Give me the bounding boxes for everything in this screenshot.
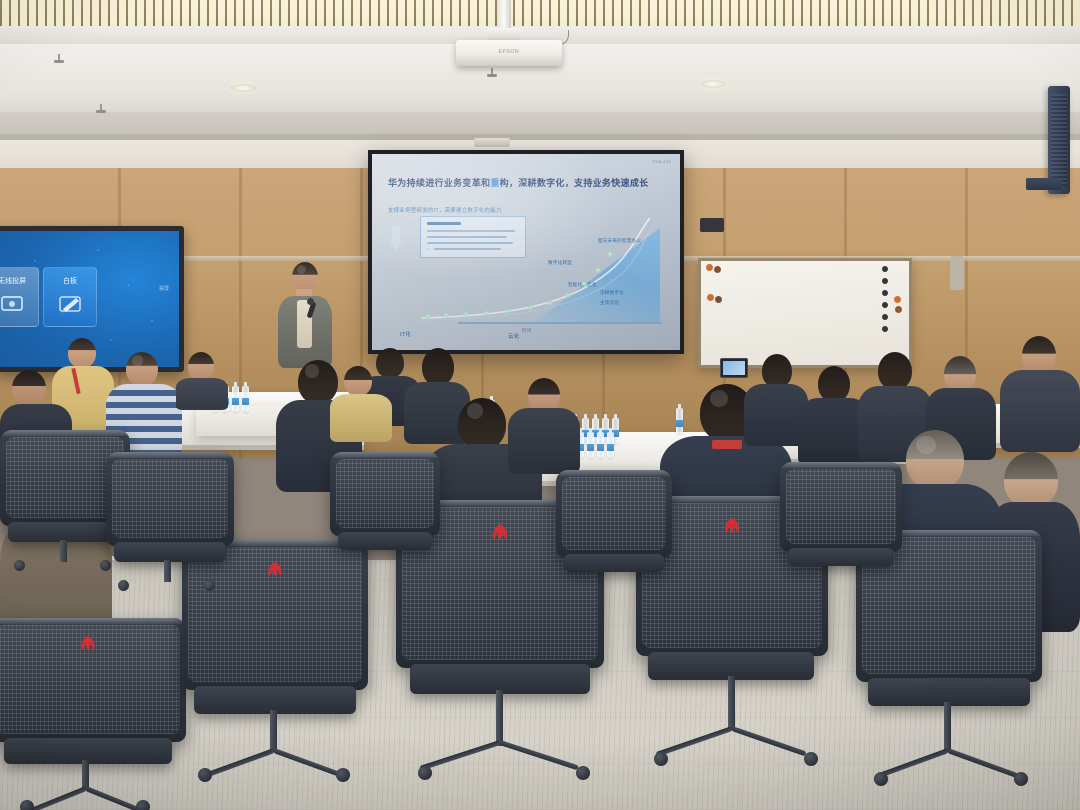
water-bottle xyxy=(232,386,239,412)
milestone-dot xyxy=(548,301,552,305)
huawei-flower-logo xyxy=(721,516,744,535)
sprinkler-icon xyxy=(54,54,64,64)
callout-heading-bar xyxy=(427,222,461,225)
screen-roller-case xyxy=(474,138,510,147)
milestone-dot xyxy=(426,314,430,318)
speaker-bracket xyxy=(1026,178,1062,190)
magnet-icon xyxy=(882,278,888,284)
smartboard-tile-whiteboard[interactable]: 白板 xyxy=(43,267,97,327)
sprinkler-icon xyxy=(487,68,497,78)
milestone-dot xyxy=(566,293,570,297)
callout-text-line xyxy=(427,248,501,250)
cast-icon xyxy=(0,294,25,314)
attendee xyxy=(176,352,228,410)
water-bottle xyxy=(607,432,614,458)
milestone-dot xyxy=(528,306,532,310)
speaker-grill xyxy=(1051,94,1067,186)
smartboard-tile-cast[interactable]: 无线投屏 xyxy=(0,267,39,327)
projector-mount-pole xyxy=(497,0,511,30)
conference-room-photo: EPSON 无线投屏 白板 投屏 xyxy=(0,0,1080,810)
water-bottle xyxy=(587,432,594,458)
office-chair[interactable] xyxy=(330,452,440,572)
magnet-icon xyxy=(706,264,713,271)
presenter xyxy=(276,262,334,368)
office-chair[interactable] xyxy=(556,470,672,596)
attendee xyxy=(330,366,392,440)
magnet-icon xyxy=(882,266,888,272)
milestone-dot xyxy=(444,313,448,317)
smartboard-status-label: 投屏 xyxy=(159,285,169,292)
whiteboard-surface xyxy=(701,261,909,365)
chair-backrest xyxy=(0,618,186,742)
slide-note-mid-stage: 云化 xyxy=(508,332,520,340)
milestone-dot xyxy=(464,312,468,316)
magnet-icon xyxy=(895,306,902,313)
slide-note-mid-highlight: 数字化转型 xyxy=(548,260,572,266)
smartphone-icon xyxy=(720,358,748,378)
projector-brand-label: EPSON xyxy=(456,49,562,55)
office-chair[interactable] xyxy=(0,618,186,810)
presenter-head xyxy=(292,262,318,292)
smartboard-tile-label: 白板 xyxy=(44,276,96,286)
slide-note-right-line1: 深耕数字化 xyxy=(600,290,624,296)
magnet-icon xyxy=(707,294,714,301)
water-bottle xyxy=(242,386,249,412)
hair-highlight xyxy=(297,265,306,274)
magnet-icon xyxy=(894,296,901,303)
microphone-head-icon xyxy=(307,298,314,305)
attendee xyxy=(508,378,580,474)
milestone-dot xyxy=(506,309,510,313)
water-bottle xyxy=(597,432,604,458)
presentation-slide: P28-203 华为持续进行业务变革和重构，深耕数字化，支持业务快速成长 支撑业… xyxy=(372,154,680,350)
smartboard-tile-label: 无线投屏 xyxy=(0,276,38,286)
slide-title-part2: 构，深耕数字化，支持业务快速成长 xyxy=(500,178,649,188)
wall-control-panel[interactable] xyxy=(700,218,724,232)
slide-subtitle: 支撑业务型研发的IT，需要建立数字化的能力 xyxy=(388,206,502,214)
lanyard-badge xyxy=(712,440,742,449)
ceiling-projector: EPSON xyxy=(456,40,562,66)
slide-title-highlight: 重 xyxy=(490,178,499,188)
magnet-icon xyxy=(715,296,722,303)
callout-text-line xyxy=(427,230,515,232)
slide-note-left-stage: IT化 xyxy=(400,330,411,338)
huawei-flower-logo xyxy=(77,634,99,652)
downlight-icon xyxy=(700,80,726,88)
slide-note-curve-label: 智能化、云化 xyxy=(568,282,597,288)
huawei-flower-logo xyxy=(264,560,286,578)
magnet-icon xyxy=(882,290,888,296)
slide-note-axis-label: 时间 xyxy=(522,328,532,334)
down-arrow-icon xyxy=(389,226,403,252)
attendee xyxy=(1000,336,1080,452)
whiteboard-pen-icon xyxy=(57,294,83,314)
office-chair[interactable] xyxy=(106,452,234,598)
sprinkler-icon xyxy=(96,104,106,114)
projection-screen: P28-203 华为持续进行业务变革和重构，深耕数字化，支持业务快速成长 支撑业… xyxy=(368,150,684,354)
slide-title-part1: 华为持续进行业务变革和 xyxy=(388,178,490,188)
slide-page-number: P28-203 xyxy=(653,159,671,164)
wall-sensor xyxy=(950,256,964,290)
magnet-icon xyxy=(882,314,888,320)
milestone-marker-icon xyxy=(424,244,438,255)
milestone-dot xyxy=(596,268,600,272)
slide-note-right-top: 面向未来的智慧办公 xyxy=(598,238,641,244)
magnet-icon xyxy=(882,302,888,308)
huawei-flower-logo xyxy=(488,522,512,542)
slide-title: 华为持续进行业务变革和重构，深耕数字化，支持业务快速成长 xyxy=(388,176,668,189)
slide-note-right-line2: 主攻云化 xyxy=(600,300,619,306)
magnet-icon xyxy=(882,326,888,332)
office-chair[interactable] xyxy=(780,462,902,592)
downlight-icon xyxy=(230,84,256,92)
magnet-icon xyxy=(714,266,721,273)
callout-text-line xyxy=(427,236,507,238)
callout-text-line xyxy=(427,242,513,244)
milestone-dot xyxy=(608,252,612,256)
milestone-dot xyxy=(484,311,488,315)
